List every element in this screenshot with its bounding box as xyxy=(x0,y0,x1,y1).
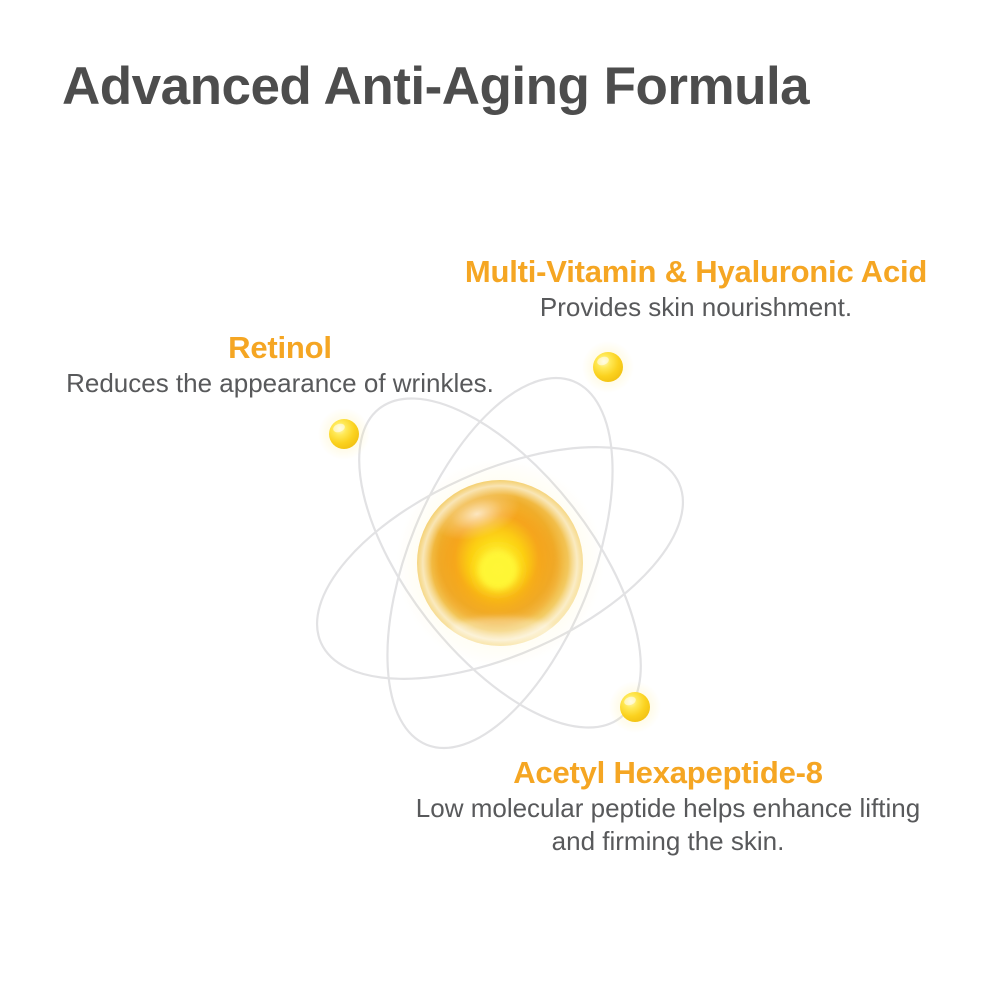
electron-left xyxy=(318,408,370,460)
nucleus-bottom-sheen xyxy=(450,617,554,643)
electron-top-right-body xyxy=(593,352,623,382)
electron-left-body xyxy=(329,419,359,449)
electron-bottom-right-body xyxy=(620,692,650,722)
callout-acetyl: Acetyl Hexapeptide-8 Low molecular pepti… xyxy=(404,755,932,858)
callout-acetyl-heading: Acetyl Hexapeptide-8 xyxy=(404,755,932,792)
page-title: Advanced Anti-Aging Formula xyxy=(62,56,809,117)
callout-retinol: Retinol Reduces the appearance of wrinkl… xyxy=(22,330,538,400)
callout-multivitamin: Multi-Vitamin & Hyaluronic Acid Provides… xyxy=(408,254,984,324)
electron-top-right xyxy=(582,341,634,393)
callout-multivitamin-heading: Multi-Vitamin & Hyaluronic Acid xyxy=(408,254,984,291)
electron-bottom-right xyxy=(609,681,661,733)
infographic-page: Advanced Anti-Aging Formula xyxy=(0,0,1000,1000)
nucleus xyxy=(396,459,604,667)
callout-multivitamin-description: Provides skin nourishment. xyxy=(408,291,984,324)
callout-retinol-description: Reduces the appearance of wrinkles. xyxy=(22,367,538,400)
callout-retinol-heading: Retinol xyxy=(22,330,538,367)
callout-acetyl-description: Low molecular peptide helps enhance lift… xyxy=(404,792,932,859)
